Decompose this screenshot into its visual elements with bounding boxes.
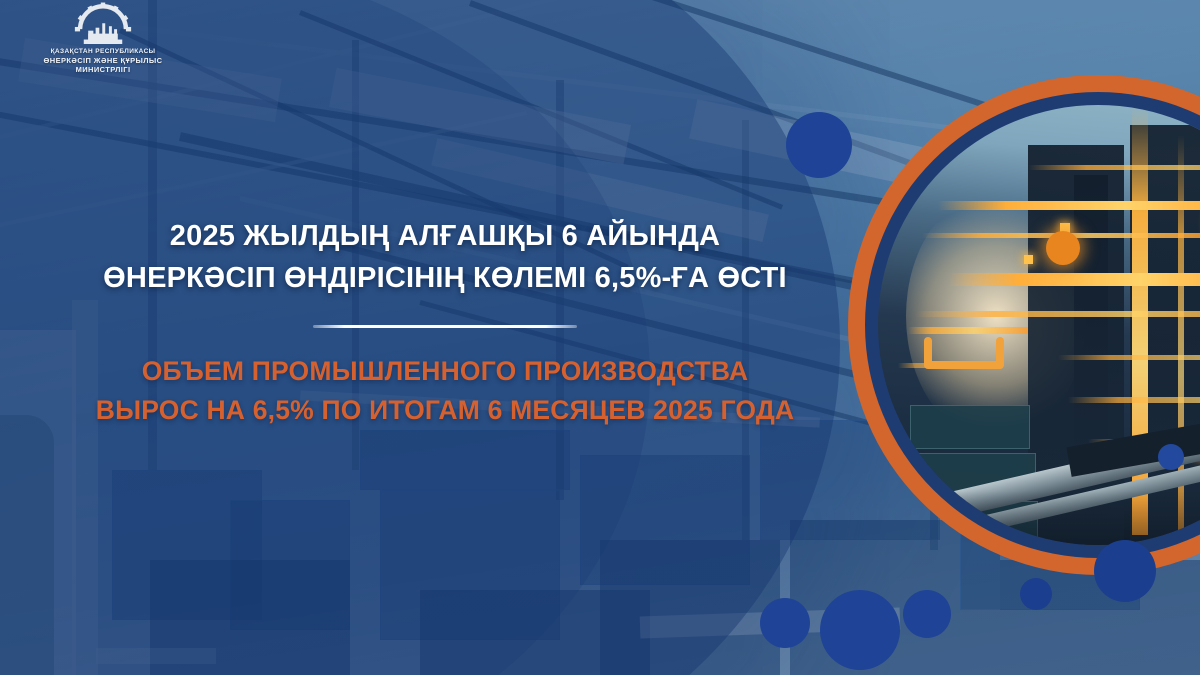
logo-line-1: ҚАЗАҚСТАН РЕСПУБЛИКАСЫ <box>44 48 163 56</box>
decor-dot <box>786 112 852 178</box>
logo-line-2: ӨНЕРКӘСІП ЖӘНЕ ҚҰРЫЛЫС <box>44 56 163 65</box>
headline-block: 2025 ЖЫЛДЫҢ АЛҒАШҚЫ 6 АЙЫНДА ӨНЕРКӘСІП Ө… <box>0 215 890 431</box>
banner-canvas: ҚАЗАҚСТАН РЕСПУБЛИКАСЫ ӨНЕРКӘСІП ЖӘНЕ ҚҰ… <box>0 0 1200 675</box>
headline-ru-line-2: ВЫРОС НА 6,5% ПО ИТОГАМ 6 МЕСЯЦЕВ 2025 Г… <box>0 391 890 430</box>
badge-navy-ring <box>865 92 1200 558</box>
ministry-logo: ҚАЗАҚСТАН РЕСПУБЛИКАСЫ ӨНЕРКӘСІП ЖӘНЕ ҚҰ… <box>8 2 198 94</box>
headline-kz-line-2: ӨНЕРКӘСІП ӨНДІРІСІНІҢ КӨЛЕМІ 6,5%-ҒА ӨСТ… <box>0 257 890 299</box>
decor-dot <box>903 590 951 638</box>
logo-line-3: МИНИСТРЛІГІ <box>44 65 163 74</box>
decor-dot <box>760 598 810 648</box>
headline-ru-line-1: ОБЪЕМ ПРОМЫШЛЕННОГО ПРОИЗВОДСТВА <box>0 352 890 391</box>
headline-divider <box>313 325 577 328</box>
gear-factory-emblem-icon <box>66 2 140 46</box>
headline-kz-line-1: 2025 ЖЫЛДЫҢ АЛҒАШҚЫ 6 АЙЫНДА <box>0 215 890 257</box>
decor-dot <box>1094 540 1156 602</box>
decor-dot <box>1020 578 1052 610</box>
decor-dot <box>820 590 900 670</box>
badge-inner-image <box>878 105 1200 545</box>
decor-dot <box>1158 444 1184 470</box>
